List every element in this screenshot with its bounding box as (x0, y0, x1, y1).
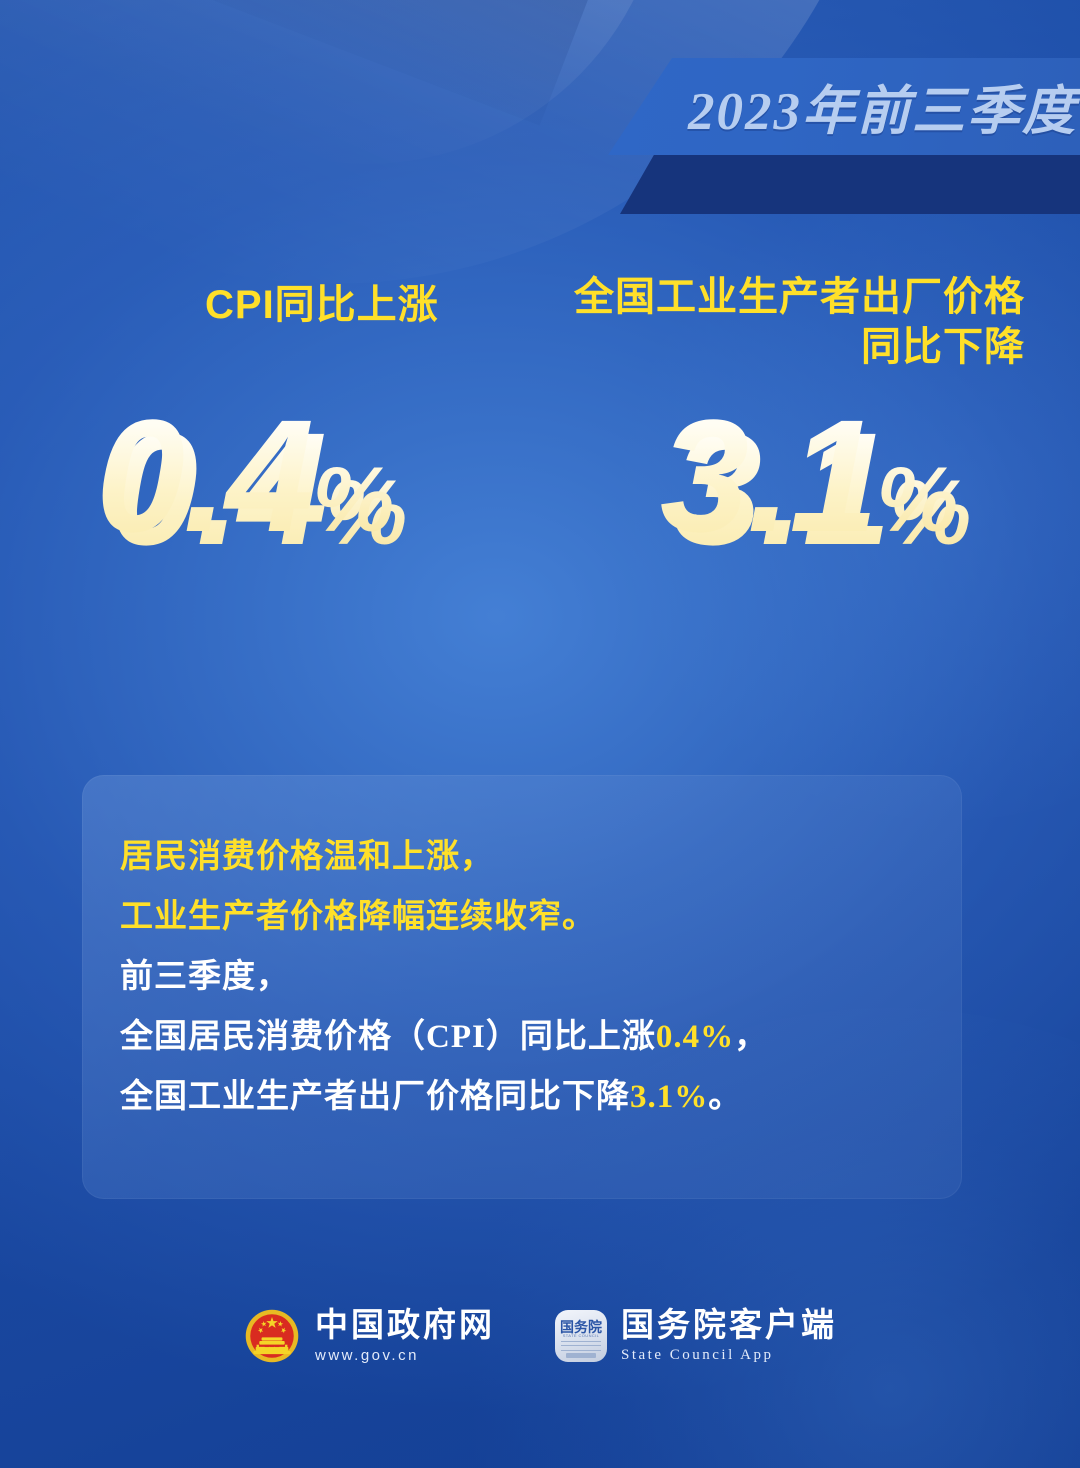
cpi-value-front: 0.4% (96, 396, 393, 556)
header-banner: 2023年前三季度 (0, 58, 1080, 176)
ppi-value-unit: % (876, 449, 957, 551)
ppi-heading-line-1: 全国工业生产者出厂价格 (505, 272, 1025, 322)
state-council-app-logo-text: 国务院客户端 State Council App (621, 1307, 837, 1366)
infographic-poster: 2023年前三季度 CPI同比上涨 全国工业生产者出厂价格 同比下降 0.4% … (0, 0, 1080, 1468)
summary-line-1: 居民消费价格温和上涨， (120, 827, 962, 887)
summary-line-4-highlight: 0.4% (656, 1019, 734, 1055)
summary-line-4: 全国居民消费价格（CPI）同比上涨0.4%， (120, 1007, 962, 1067)
state-council-app-logo[interactable]: 国务院 STATE COUNCIL 国务院客户端 State Council A… (555, 1307, 837, 1366)
cpi-stat-heading: CPI同比上涨 (205, 272, 439, 330)
stats-section: CPI同比上涨 全国工业生产者出厂价格 同比下降 0.4% 0.4% 3.1% (0, 258, 1080, 588)
ppi-value-front: 3.1% (660, 396, 957, 556)
summary-line-3: 前三季度， (120, 947, 962, 1007)
state-council-app-logo-en: State Council App (621, 1346, 837, 1366)
banner-title: 2023年前三季度 (688, 69, 1077, 145)
stat-headings: CPI同比上涨 全国工业生产者出厂价格 同比下降 (0, 258, 1080, 378)
cpi-value-number: 0.4 (96, 386, 312, 565)
ppi-stat-heading: 全国工业生产者出厂价格 同比下降 (505, 272, 1025, 372)
ppi-value-block: 3.1% 3.1% (660, 396, 957, 556)
summary-text-panel: 居民消费价格温和上涨， 工业生产者价格降幅连续收窄。 前三季度， 全国居民消费价… (82, 775, 962, 1199)
stat-values: 0.4% 0.4% 3.1% 3.1% (0, 396, 1080, 596)
ppi-value-number: 3.1 (660, 386, 876, 565)
summary-line-5: 全国工业生产者出厂价格同比下降3.1%。 (120, 1067, 962, 1127)
banner-parallelogram: 2023年前三季度 (608, 58, 1080, 155)
summary-line-2: 工业生产者价格降幅连续收窄。 (120, 887, 962, 947)
tiananmen-gate-icon (561, 1338, 601, 1358)
cpi-value-unit: % (312, 449, 393, 551)
summary-line-5-prefix: 全国工业生产者出厂价格同比下降 (120, 1079, 630, 1115)
gov-cn-logo-text: 中国政府网 www.gov.cn (315, 1307, 495, 1366)
ppi-heading-line-2: 同比下降 (505, 322, 1025, 372)
summary-line-4-prefix: 全国居民消费价格（CPI）同比上涨 (120, 1019, 656, 1055)
summary-line-5-highlight: 3.1% (630, 1079, 708, 1115)
summary-line-4-suffix: ， (734, 1019, 768, 1055)
gov-cn-logo-cn: 中国政府网 (315, 1307, 495, 1343)
state-council-app-icon: 国务院 STATE COUNCIL (555, 1310, 607, 1362)
national-emblem-icon (243, 1307, 301, 1365)
state-council-app-logo-cn: 国务院客户端 (621, 1307, 837, 1343)
summary-line-5-suffix: 。 (708, 1079, 742, 1115)
footer-logos: 中国政府网 www.gov.cn 国务院 STATE COUNCIL 国务院客户… (0, 1288, 1080, 1384)
cpi-value-block: 0.4% 0.4% (96, 396, 393, 556)
gov-cn-logo[interactable]: 中国政府网 www.gov.cn (243, 1307, 495, 1366)
summary-text: 居民消费价格温和上涨， 工业生产者价格降幅连续收窄。 前三季度， 全国居民消费价… (82, 775, 962, 1127)
gov-cn-logo-en: www.gov.cn (315, 1346, 495, 1366)
